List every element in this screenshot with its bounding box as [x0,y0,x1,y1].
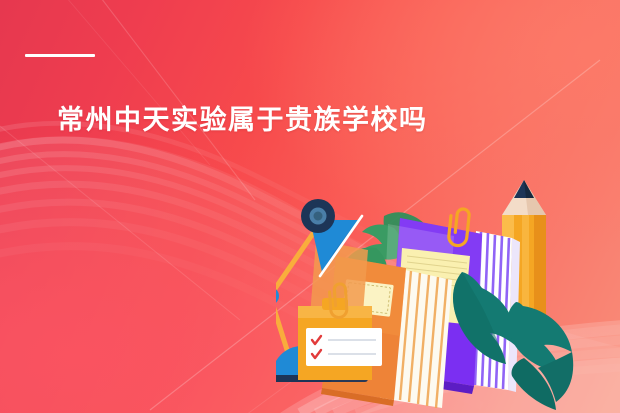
promo-banner: 常州中天实验属于贵族学校吗 [0,0,620,413]
lamp-upper-arm [276,232,314,296]
school-supplies-artwork [276,176,620,413]
illustration [276,176,620,413]
title-accent-rule [25,54,95,57]
page-title: 常州中天实验属于贵族学校吗 [57,103,428,137]
clipboard-paper [306,328,382,366]
